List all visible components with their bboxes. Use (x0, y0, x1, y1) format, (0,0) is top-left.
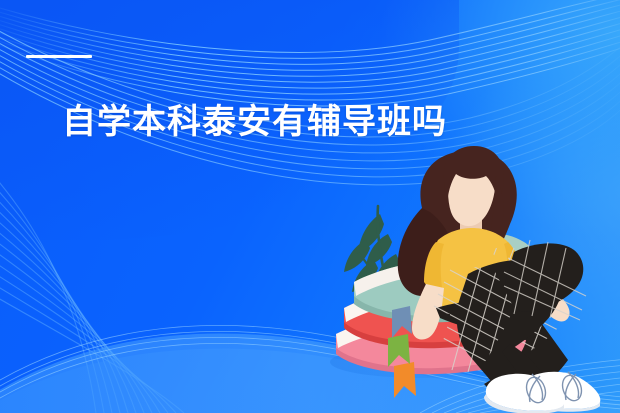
bookmark-icon (394, 362, 416, 398)
illustration-woman-on-books (318, 148, 620, 413)
accent-rule (26, 55, 92, 58)
promo-banner: 自学本科泰安有辅导班吗 (0, 0, 620, 413)
page-title: 自学本科泰安有辅导班吗 (62, 101, 447, 143)
